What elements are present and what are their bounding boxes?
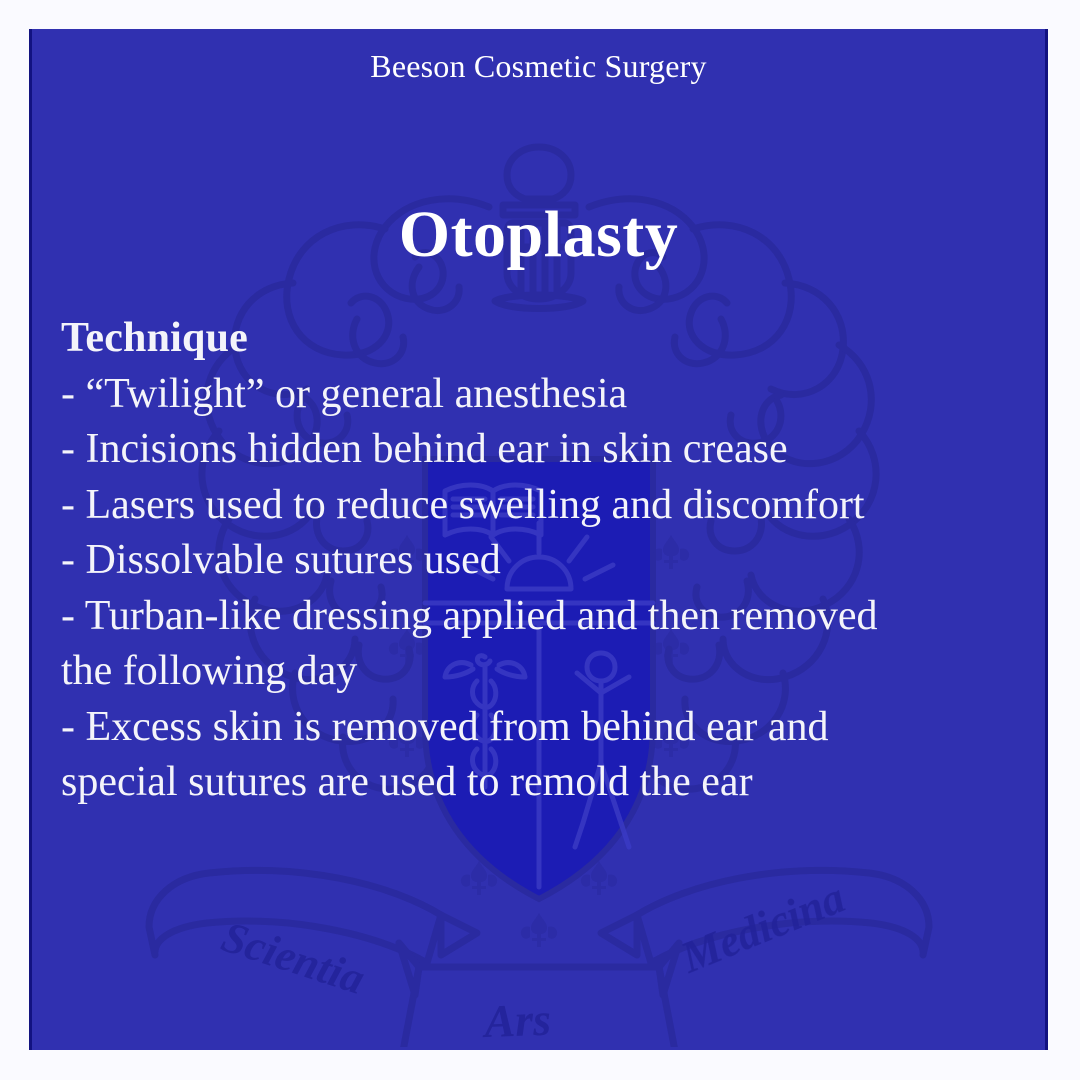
- body-heading: Technique: [61, 311, 1023, 367]
- body-line: - Excess skin is removed from behind ear…: [61, 700, 1023, 756]
- body-line: - “Twilight” or general anesthesia: [61, 367, 1023, 423]
- slide-content: Beeson Cosmetic Surgery Otoplasty Techni…: [32, 29, 1045, 1050]
- body-line: - Turban-like dressing applied and then …: [61, 589, 1023, 645]
- presentation-slide: Scientia Ars Medicina Beeson Cosmetic Su…: [29, 29, 1048, 1050]
- body-line: - Incisions hidden behind ear in skin cr…: [61, 422, 1023, 478]
- page-title: Otoplasty: [32, 196, 1045, 274]
- body-line: - Lasers used to reduce swelling and dis…: [61, 478, 1023, 534]
- page-root: Scientia Ars Medicina Beeson Cosmetic Su…: [0, 0, 1080, 1080]
- slide-header: Beeson Cosmetic Surgery: [32, 46, 1045, 86]
- body-text-block: Technique- “Twilight” or general anesthe…: [61, 311, 1023, 811]
- body-line: the following day: [61, 644, 1023, 700]
- body-line: - Dissolvable sutures used: [61, 533, 1023, 589]
- body-line: special sutures are used to remold the e…: [61, 755, 1023, 811]
